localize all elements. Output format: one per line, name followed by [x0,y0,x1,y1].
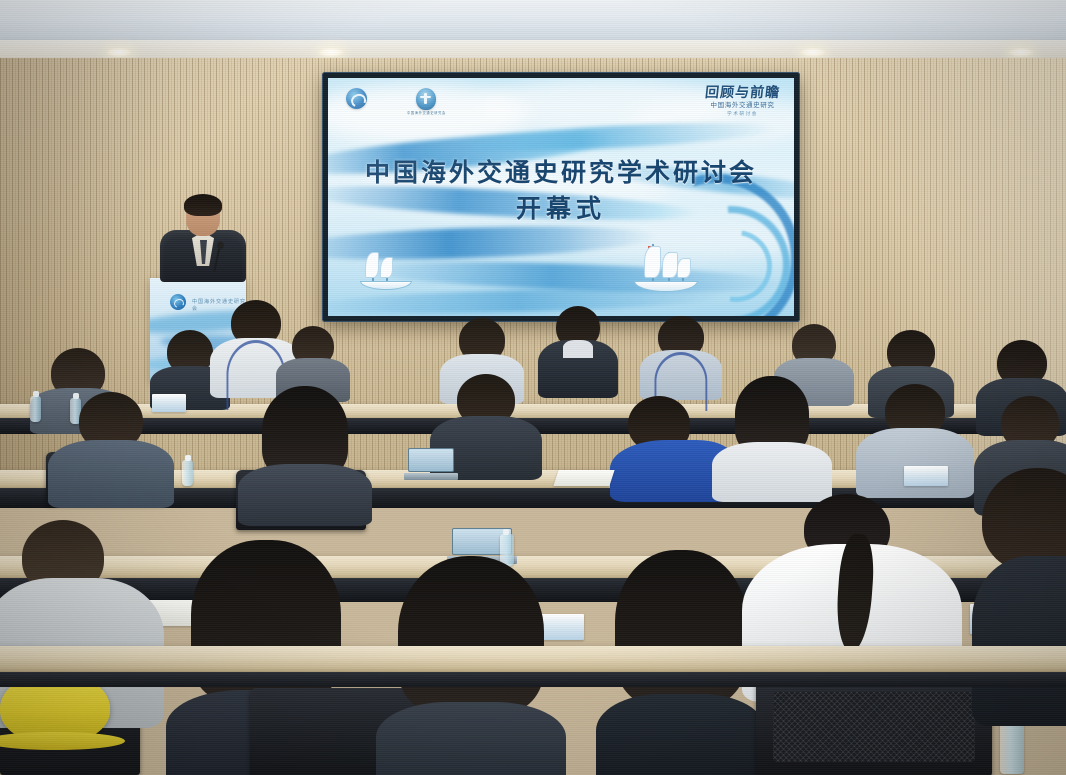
attendee-hair-long [398,556,544,714]
attendee-torso [712,442,832,502]
speaker-at-podium [160,196,246,280]
attendee-torso [376,702,566,775]
sailboat-illustration-left [356,246,418,290]
list-item [48,392,174,504]
list-item [712,376,832,492]
paper-handout [553,470,614,486]
table-row [0,646,1066,674]
downlight [318,48,344,57]
conference-booklet [904,466,948,486]
attendee-torso [238,464,372,526]
institution-logo-crest-group: 中国海外交通史研究会 [407,88,446,115]
institution-logo-circular-icon [346,88,367,109]
downlight [800,48,826,57]
water-bottle [1000,718,1024,774]
institution-logo-crest-icon [416,88,436,110]
speaker-hair [184,194,222,216]
attendee-torso [48,440,174,508]
institution-logo-crest-label: 中国海外交通史研究会 [407,112,446,115]
water-bottle [182,460,193,486]
standee-emblem-icon [170,294,186,310]
attendee-torso [596,694,766,775]
emblem-subtitle: 中国海外交通史研究 [705,103,780,110]
attendee-torso [972,556,1066,726]
sailing-junk-illustration-right [628,234,702,292]
emblem-subtitle-2: 学术研讨会 [705,112,780,117]
attendee-torso [856,428,974,498]
projection-screen: 中国海外交通史研究会 回顾与前瞻 中国海外交通史研究 学术研讨会 中国海外交通史… [322,72,800,322]
screen-content: 中国海外交通史研究会 回顾与前瞻 中国海外交通史研究 学术研讨会 中国海外交通史… [328,78,794,316]
downlight [106,48,132,57]
screen-emblem: 回顾与前瞻 中国海外交通史研究 学术研讨会 [705,86,780,116]
conference-hall-photo: 中国海外交通史研究会 回顾与前瞻 中国海外交通史研究 学术研讨会 中国海外交通史… [0,0,1066,775]
screen-logo-group: 中国海外交通史研究会 [346,88,446,115]
list-item [538,306,618,396]
mesh-back-chair [756,676,992,775]
downlight [1008,48,1034,57]
water-bottle [30,396,41,422]
list-item [640,316,722,396]
laptop [408,448,454,480]
list-item [238,386,372,522]
attendee-collar [563,340,593,358]
emblem-title: 回顾与前瞻 [704,86,780,100]
